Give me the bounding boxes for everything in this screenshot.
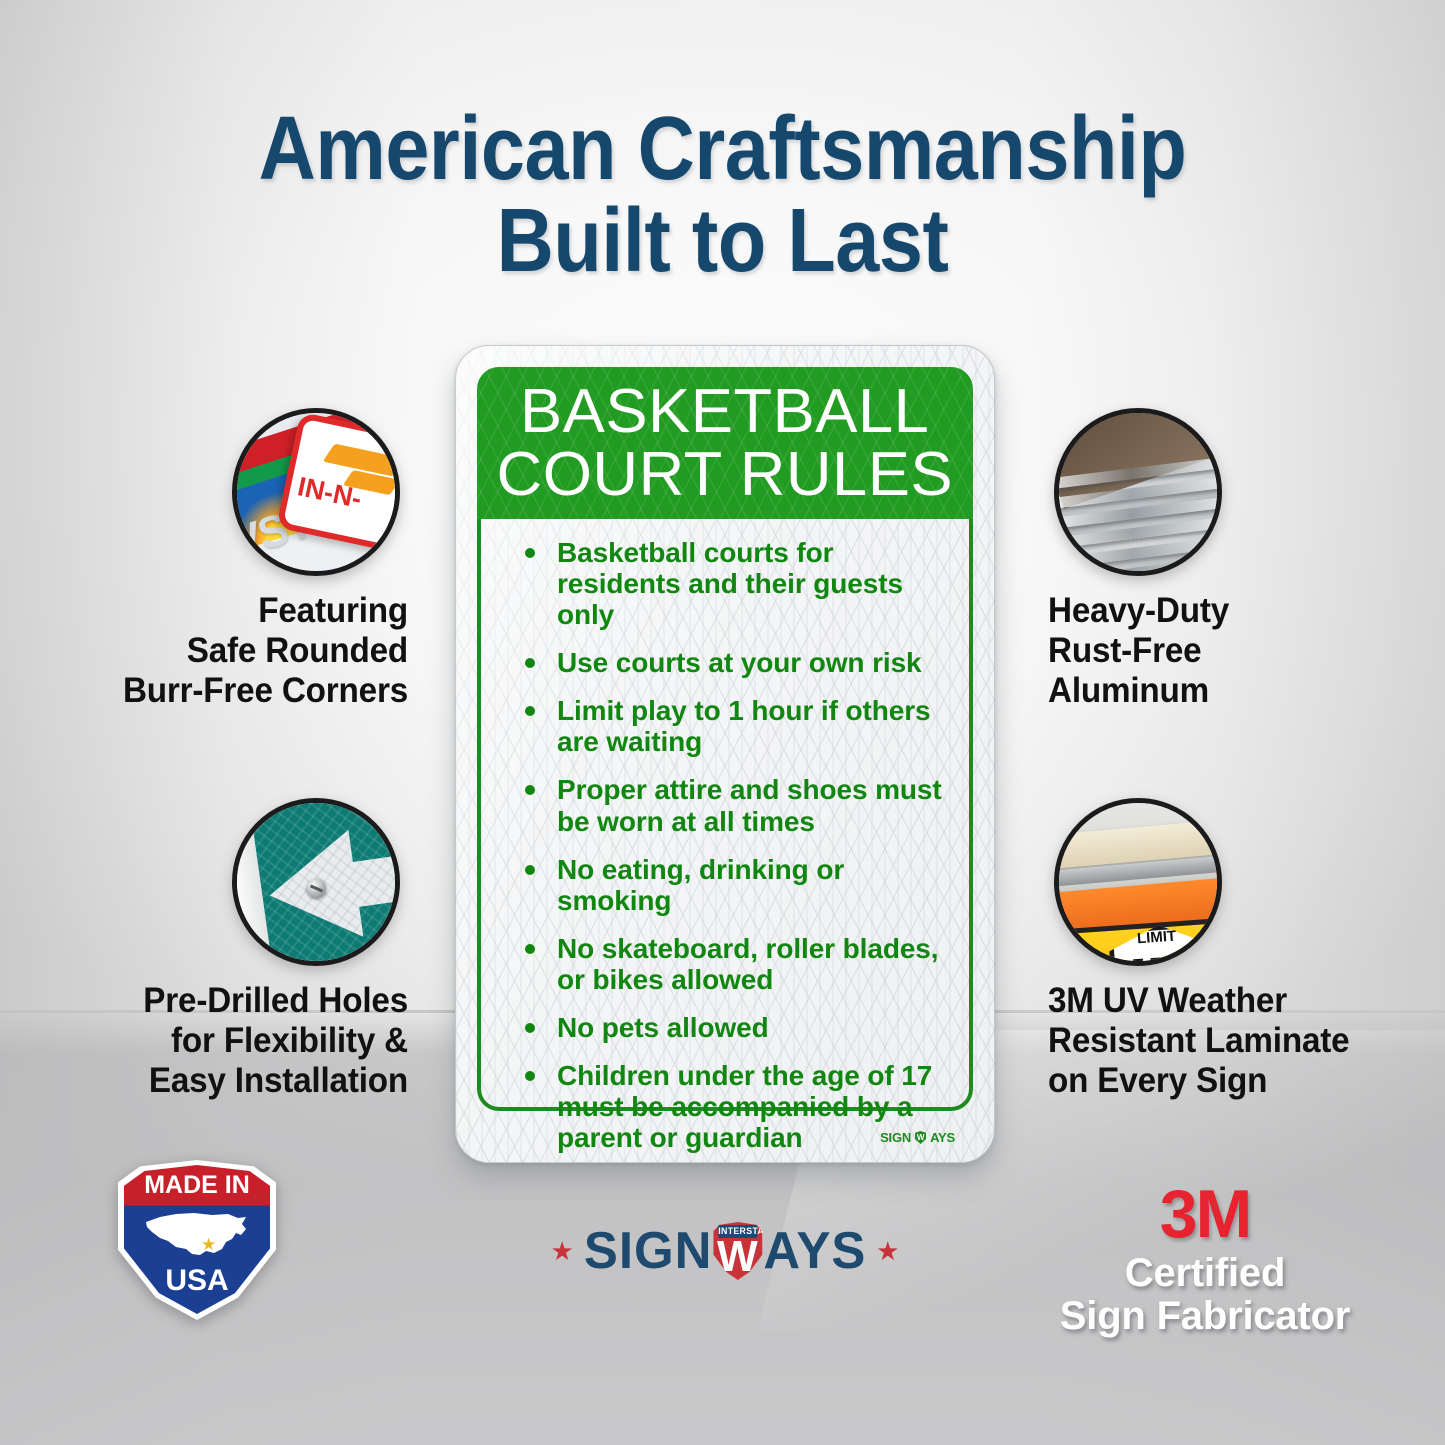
laminating-machine-speed-limit-sign-photo: LIMIT 45 [1054, 798, 1222, 966]
caption-line: Resistant Laminate [1048, 1021, 1362, 1061]
signways-logo: ★ SIGN INTERSTATE W AYS ★ [560, 1212, 890, 1290]
bullet-icon [525, 658, 535, 668]
feature-rounded-corners: VSTII IN-N- Featuring Safe Rounded Burr-… [78, 408, 408, 711]
caption-line: Heavy-Duty [1048, 591, 1362, 631]
watermark-shield-icon: W [915, 1131, 926, 1144]
aluminum-photo-art [1059, 413, 1217, 571]
caption-line: on Every Sign [1048, 1061, 1362, 1101]
watermark-right-text: AYS [930, 1130, 955, 1145]
badge-bottom-text: USA [118, 1264, 276, 1298]
sign-rule-item: Proper attire and shoes must be worn at … [499, 774, 953, 836]
logo-wordmark: SIGN INTERSTATE W AYS [584, 1221, 867, 1281]
caption-line: Easy Installation [95, 1061, 409, 1101]
caption-line: Rust-Free [1048, 631, 1362, 671]
made-in-usa-badge: MADE IN ★ USA [118, 1160, 276, 1320]
teal-photo-art [237, 803, 395, 961]
logo-star-right-icon: ★ [876, 1238, 899, 1264]
rule-text: No eating, drinking or smoking [557, 854, 953, 916]
sign-watermark-signways: SIGN W AYS [880, 1130, 955, 1145]
watermark-shield-letter: W [915, 1131, 926, 1144]
feature-uv-laminate: LIMIT 45 3M UV Weather Resistant Laminat… [1048, 798, 1378, 1101]
caption-line: for Flexibility & [95, 1021, 409, 1061]
headline-line-2: Built to Last [87, 196, 1359, 288]
sign-rule-item: Limit play to 1 hour if others are waiti… [499, 695, 953, 757]
logo-star-left-icon: ★ [551, 1238, 574, 1264]
sign-rule-item: No pets allowed [499, 1012, 953, 1043]
teal-sign-with-mounting-screw-photo [232, 798, 400, 966]
usa-map-icon [142, 1208, 252, 1264]
rule-text: Proper attire and shoes must be worn at … [557, 774, 953, 836]
logo-shield-letter: W [717, 1235, 759, 1279]
logo-text-part2: AYS [763, 1221, 866, 1281]
sign-rules-list: Basketball courts for residents and thei… [477, 519, 973, 1111]
three-m-line-2: Sign Fabricator [1020, 1295, 1390, 1338]
feature-pre-drilled-holes: Pre-Drilled Holes for Flexibility & Easy… [78, 798, 408, 1101]
photo-mounting-screw [307, 879, 326, 898]
badge-top-text: MADE IN [118, 1171, 276, 1200]
caption-line: 3M UV Weather [1048, 981, 1362, 1021]
bullet-icon [525, 1071, 535, 1081]
bullet-icon [525, 1023, 535, 1033]
rule-text: Use courts at your own risk [557, 647, 953, 678]
bullet-icon [525, 865, 535, 875]
photo-speed-number: 45 [1114, 943, 1182, 966]
bullet-icon [525, 944, 535, 954]
stacked-aluminum-sheets-photo [1054, 408, 1222, 576]
logo-interstate-shield-icon: INTERSTATE W [713, 1222, 762, 1280]
feature-caption-rounded-corners: Featuring Safe Rounded Burr-Free Corners [95, 591, 409, 711]
product-sign: BASKETBALL COURT RULES Basketball courts… [455, 345, 995, 1163]
bullet-icon [525, 785, 535, 795]
feature-caption-pre-drilled-holes: Pre-Drilled Holes for Flexibility & Easy… [95, 981, 409, 1101]
rule-text: Limit play to 1 hour if others are waiti… [557, 695, 953, 757]
laminator-photo-art: LIMIT 45 [1059, 803, 1217, 961]
sign-rule-item: No eating, drinking or smoking [499, 854, 953, 916]
sign-rule-item: Use courts at your own risk [499, 647, 953, 678]
sign-rule-item: No skateboard, roller blades, or bikes a… [499, 933, 953, 995]
rule-text: No skateboard, roller blades, or bikes a… [557, 933, 953, 995]
sign-header-panel: BASKETBALL COURT RULES [477, 367, 973, 519]
sign-rule-item: Basketball courts for residents and thei… [499, 537, 953, 630]
bullet-icon [525, 706, 535, 716]
logo-text-part1: SIGN [584, 1221, 713, 1281]
caption-line: Featuring [95, 591, 409, 631]
three-m-line-1: Certified [1020, 1252, 1390, 1295]
watermark-left-text: SIGN [880, 1130, 911, 1145]
caption-line: Safe Rounded [95, 631, 409, 671]
caption-line: Aluminum [1048, 671, 1362, 711]
caption-line: Pre-Drilled Holes [95, 981, 409, 1021]
three-m-logo-text: 3M [1020, 1180, 1390, 1248]
feature-caption-uv-laminate: 3M UV Weather Resistant Laminate on Ever… [1048, 981, 1362, 1101]
feature-aluminum: Heavy-Duty Rust-Free Aluminum [1048, 408, 1378, 711]
sign-title-line-2: COURT RULES [497, 443, 954, 506]
feature-caption-aluminum: Heavy-Duty Rust-Free Aluminum [1048, 591, 1362, 711]
stacked-colorful-signs-photo: VSTII IN-N- [232, 408, 400, 576]
rule-text: Basketball courts for residents and thei… [557, 537, 953, 630]
logo-shield-banner: INTERSTATE [718, 1225, 757, 1238]
bullet-icon [525, 548, 535, 558]
page-headline: American Craftsmanship Built to Last [87, 104, 1359, 288]
caption-line: Burr-Free Corners [95, 671, 409, 711]
badge-star-icon: ★ [201, 1235, 216, 1255]
three-m-certified-badge: 3M Certified Sign Fabricator [1020, 1180, 1390, 1338]
headline-line-1: American Craftsmanship [259, 99, 1187, 199]
rule-text: No pets allowed [557, 1012, 953, 1043]
signs-photo-art: VSTII IN-N- [237, 413, 395, 571]
sign-title-line-1: BASKETBALL [520, 380, 929, 443]
